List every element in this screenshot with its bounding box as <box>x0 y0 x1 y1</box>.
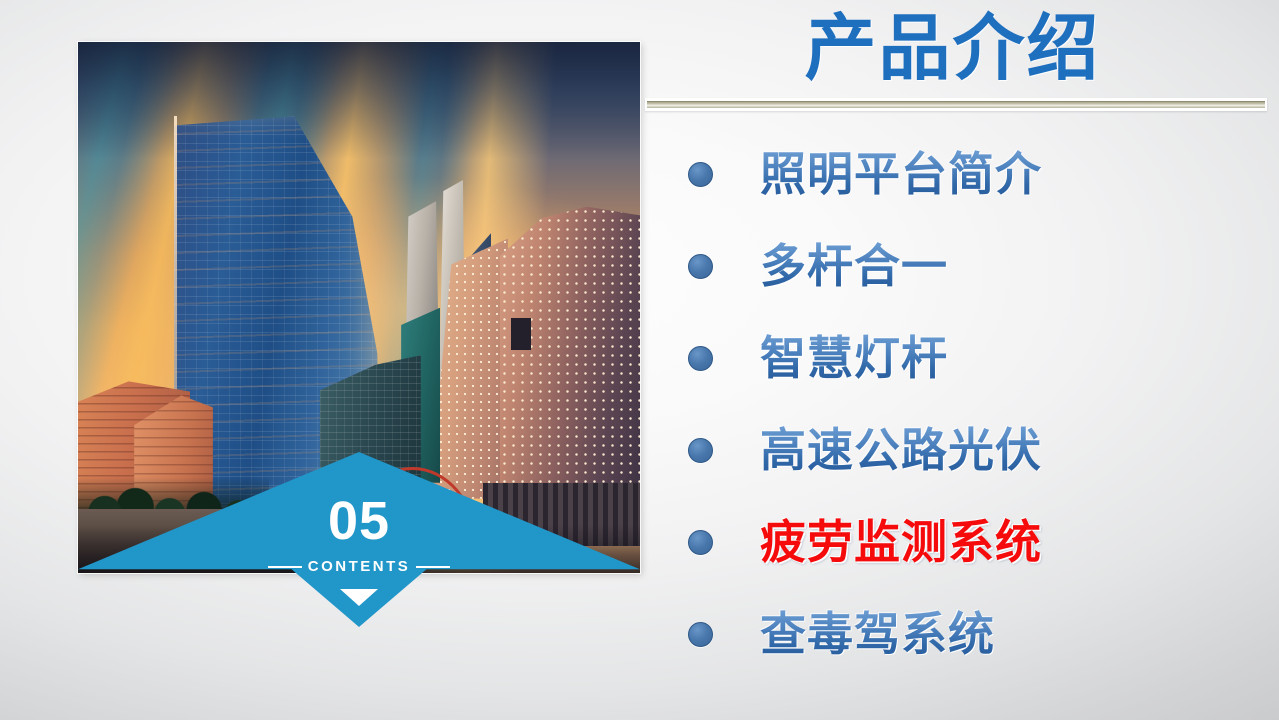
photo-perforated-tower <box>500 207 641 499</box>
bullet-dot-wrap <box>640 530 760 555</box>
list-item[interactable]: 查毒驾系统 <box>640 588 1279 680</box>
list-item-label: 智慧灯杆 <box>760 333 948 384</box>
right-column: 产品介绍 照明平台简介 多杆合一 智慧灯杆 <box>640 0 1279 720</box>
bullet-dot-wrap <box>640 346 760 371</box>
list-item-label: 多杆合一 <box>760 241 948 292</box>
bullet-dot-wrap <box>640 438 760 463</box>
title-divider <box>645 98 1267 111</box>
presentation-slide: 05 CONTENTS 产品介绍 照明平台简介 多杆合一 <box>0 0 1279 720</box>
photo-tower-window-gap <box>511 318 531 350</box>
contents-list: 照明平台简介 多杆合一 智慧灯杆 高速公路光伏 <box>640 128 1279 680</box>
list-item[interactable]: 高速公路光伏 <box>640 404 1279 496</box>
bullet-dot-wrap <box>640 622 760 647</box>
list-item-label: 高速公路光伏 <box>760 425 1042 476</box>
list-item-label: 查毒驾系统 <box>760 609 995 660</box>
bullet-icon <box>688 162 713 187</box>
bullet-icon <box>688 622 713 647</box>
bullet-icon <box>688 530 713 555</box>
list-item[interactable]: 智慧灯杆 <box>640 312 1279 404</box>
list-item-label-highlighted: 疲劳监测系统 <box>760 517 1042 568</box>
bullet-icon <box>688 438 713 463</box>
list-item[interactable]: 照明平台简介 <box>640 128 1279 220</box>
list-item[interactable]: 多杆合一 <box>640 220 1279 312</box>
bullet-icon <box>688 254 713 279</box>
bullet-dot-wrap <box>640 162 760 187</box>
list-item[interactable]: 疲劳监测系统 <box>640 496 1279 588</box>
bullet-dot-wrap <box>640 254 760 279</box>
bullet-icon <box>688 346 713 371</box>
list-item-label: 照明平台简介 <box>760 149 1042 200</box>
title-divider-bar <box>647 101 1265 108</box>
page-title: 产品介绍 <box>640 8 1265 91</box>
